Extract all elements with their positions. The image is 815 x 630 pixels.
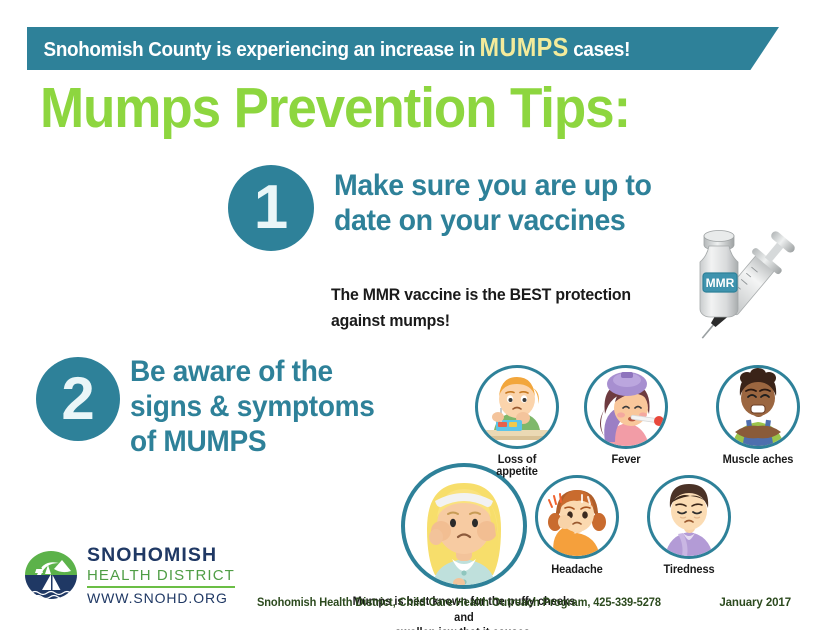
symptom-circle xyxy=(584,365,668,449)
symptom-circle xyxy=(475,365,559,449)
logo-line-1: SNOHOMISH xyxy=(87,546,235,566)
child-fever-icon xyxy=(587,368,665,446)
mumps-prevention-poster: Snohomish County is experiencing an incr… xyxy=(0,0,815,630)
tip-heading-2: Be aware of the signs & symptoms of MUMP… xyxy=(130,355,375,459)
symptom-label: Headache xyxy=(537,564,618,576)
alert-banner: Snohomish County is experiencing an incr… xyxy=(27,27,779,70)
symptom-circle xyxy=(647,475,731,559)
symptom-tiredness: Tiredness xyxy=(647,475,731,576)
symptom-headache: Headache xyxy=(535,475,619,576)
organization-logo: SNOHOMISH HEALTH DISTRICT WWW.SNOHD.ORG xyxy=(24,546,235,605)
page-title: Mumps Prevention Tips: xyxy=(40,80,630,137)
symptom-circle xyxy=(535,475,619,559)
symptom-label: Muscle aches xyxy=(718,454,799,466)
tip-subtext-1: The MMR vaccine is the BEST protection a… xyxy=(331,283,631,334)
mmr-vaccine-illustration: MMR xyxy=(676,226,808,350)
child-tired-icon xyxy=(650,478,728,556)
symptom-label: Tiredness xyxy=(649,564,730,576)
logo-line-2: HEALTH DISTRICT xyxy=(87,568,235,583)
tip-heading-1: Make sure you are up to date on your vac… xyxy=(334,168,652,239)
logo-wordmark: SNOHOMISH HEALTH DISTRICT WWW.SNOHD.ORG xyxy=(87,546,235,605)
tip-number-badge-1: 1 xyxy=(228,165,314,251)
child-swollen-cheeks-icon xyxy=(405,467,523,585)
alert-banner-text-before: Snohomish County is experiencing an incr… xyxy=(44,38,475,61)
syringe-vial-icon: MMR xyxy=(676,226,808,350)
child-headache-icon xyxy=(538,478,616,556)
featured-symptom-circle xyxy=(401,463,527,589)
child-muscle-ache-icon xyxy=(719,368,797,446)
alert-banner-text: Snohomish County is experiencing an incr… xyxy=(27,34,630,63)
footer-date: January 2017 xyxy=(719,597,791,609)
tip-number-badge-2: 2 xyxy=(36,357,120,441)
alert-banner-highlight: MUMPS xyxy=(475,34,573,62)
symptom-label: Fever xyxy=(586,454,667,466)
symptom-circle xyxy=(716,365,800,449)
snohomish-health-district-badge-icon xyxy=(24,549,78,601)
logo-divider xyxy=(87,586,235,588)
symptom-fever: Fever xyxy=(584,365,668,466)
vial-label-text: MMR xyxy=(706,276,735,290)
symptom-loss-of-appetite: Loss of appetite xyxy=(475,365,559,478)
footer-contact: Snohomish Health District, Child Care He… xyxy=(257,597,661,609)
alert-banner-text-after: cases! xyxy=(573,38,630,61)
logo-website[interactable]: WWW.SNOHD.ORG xyxy=(87,591,235,605)
symptom-muscle-aches: Muscle aches xyxy=(716,365,800,466)
child-no-appetite-icon xyxy=(478,368,556,446)
